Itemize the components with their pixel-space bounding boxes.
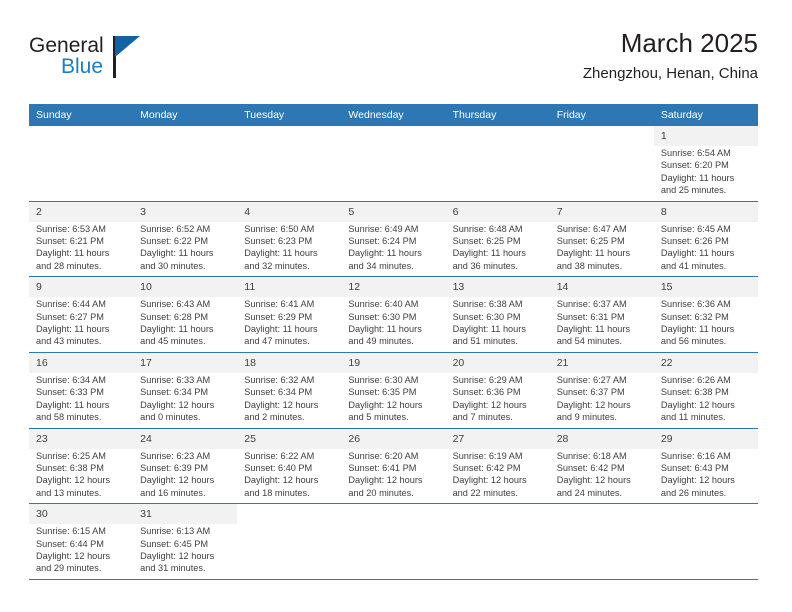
day-number: 11 xyxy=(237,277,341,297)
daylight-text-line1: Daylight: 12 hours xyxy=(36,474,127,486)
calendar-empty-cell xyxy=(550,504,654,580)
calendar-header-row-group: Sunday Monday Tuesday Wednesday Thursday… xyxy=(29,104,758,126)
day-cell-content: 17Sunrise: 6:33 AMSunset: 6:34 PMDayligh… xyxy=(133,353,237,428)
general-blue-logo[interactable]: General Blue xyxy=(29,34,209,92)
calendar-week-row: 2Sunrise: 6:53 AMSunset: 6:21 PMDaylight… xyxy=(29,201,758,277)
day-cell-content: 27Sunrise: 6:19 AMSunset: 6:42 PMDayligh… xyxy=(446,429,550,504)
daylight-text-line2: and 32 minutes. xyxy=(244,260,335,272)
sunrise-text: Sunrise: 6:13 AM xyxy=(140,525,231,537)
daylight-text-line1: Daylight: 11 hours xyxy=(661,172,752,184)
sunrise-text: Sunrise: 6:32 AM xyxy=(244,374,335,386)
sunrise-text: Sunrise: 6:43 AM xyxy=(140,298,231,310)
calendar-day-cell[interactable]: 22Sunrise: 6:26 AMSunset: 6:38 PMDayligh… xyxy=(654,352,758,428)
daylight-text-line2: and 18 minutes. xyxy=(244,487,335,499)
daylight-text-line2: and 2 minutes. xyxy=(244,411,335,423)
sunrise-text: Sunrise: 6:44 AM xyxy=(36,298,127,310)
calendar-day-cell[interactable]: 3Sunrise: 6:52 AMSunset: 6:22 PMDaylight… xyxy=(133,201,237,277)
day-cell-content: 9Sunrise: 6:44 AMSunset: 6:27 PMDaylight… xyxy=(29,277,133,352)
calendar-empty-cell xyxy=(237,126,341,201)
day-number: 4 xyxy=(237,202,341,222)
day-number: 27 xyxy=(446,429,550,449)
day-cell-content: 31Sunrise: 6:13 AMSunset: 6:45 PMDayligh… xyxy=(133,504,237,579)
day-number: 10 xyxy=(133,277,237,297)
day-number: 5 xyxy=(341,202,445,222)
day-cell-content: 8Sunrise: 6:45 AMSunset: 6:26 PMDaylight… xyxy=(654,202,758,277)
daylight-text-line2: and 54 minutes. xyxy=(557,335,648,347)
calendar-empty-cell xyxy=(341,504,445,580)
sunset-text: Sunset: 6:35 PM xyxy=(348,386,439,398)
day-number: 14 xyxy=(550,277,654,297)
calendar-day-cell[interactable]: 18Sunrise: 6:32 AMSunset: 6:34 PMDayligh… xyxy=(237,352,341,428)
calendar-day-cell[interactable]: 31Sunrise: 6:13 AMSunset: 6:45 PMDayligh… xyxy=(133,504,237,580)
day-cell-content: 7Sunrise: 6:47 AMSunset: 6:25 PMDaylight… xyxy=(550,202,654,277)
sunset-text: Sunset: 6:39 PM xyxy=(140,462,231,474)
day-cell-content: 30Sunrise: 6:15 AMSunset: 6:44 PMDayligh… xyxy=(29,504,133,579)
day-number: 9 xyxy=(29,277,133,297)
sunrise-text: Sunrise: 6:52 AM xyxy=(140,223,231,235)
day-number: 24 xyxy=(133,429,237,449)
daylight-text-line2: and 31 minutes. xyxy=(140,562,231,574)
day-number: 13 xyxy=(446,277,550,297)
weekday-header-thursday: Thursday xyxy=(446,104,550,126)
sunrise-text: Sunrise: 6:54 AM xyxy=(661,147,752,159)
daylight-text-line2: and 49 minutes. xyxy=(348,335,439,347)
daylight-text-line1: Daylight: 11 hours xyxy=(557,247,648,259)
day-cell-content: 10Sunrise: 6:43 AMSunset: 6:28 PMDayligh… xyxy=(133,277,237,352)
day-number: 31 xyxy=(133,504,237,524)
day-cell-content: 23Sunrise: 6:25 AMSunset: 6:38 PMDayligh… xyxy=(29,429,133,504)
calendar-day-cell[interactable]: 13Sunrise: 6:38 AMSunset: 6:30 PMDayligh… xyxy=(446,277,550,353)
sunset-text: Sunset: 6:36 PM xyxy=(453,386,544,398)
sunrise-text: Sunrise: 6:18 AM xyxy=(557,450,648,462)
sunrise-text: Sunrise: 6:29 AM xyxy=(453,374,544,386)
day-cell-content: 12Sunrise: 6:40 AMSunset: 6:30 PMDayligh… xyxy=(341,277,445,352)
sunset-text: Sunset: 6:23 PM xyxy=(244,235,335,247)
day-cell-content: 3Sunrise: 6:52 AMSunset: 6:22 PMDaylight… xyxy=(133,202,237,277)
day-number: 22 xyxy=(654,353,758,373)
sunset-text: Sunset: 6:22 PM xyxy=(140,235,231,247)
daylight-text-line2: and 41 minutes. xyxy=(661,260,752,272)
day-number: 16 xyxy=(29,353,133,373)
daylight-text-line2: and 20 minutes. xyxy=(348,487,439,499)
daylight-text-line1: Daylight: 12 hours xyxy=(661,474,752,486)
day-number: 12 xyxy=(341,277,445,297)
title-block: March 2025 Zhengzhou, Henan, China xyxy=(583,26,758,86)
calendar-empty-cell xyxy=(446,504,550,580)
calendar-day-cell[interactable]: 17Sunrise: 6:33 AMSunset: 6:34 PMDayligh… xyxy=(133,352,237,428)
sunset-text: Sunset: 6:29 PM xyxy=(244,311,335,323)
daylight-text-line1: Daylight: 11 hours xyxy=(453,247,544,259)
calendar-day-cell[interactable]: 27Sunrise: 6:19 AMSunset: 6:42 PMDayligh… xyxy=(446,428,550,504)
day-number: 15 xyxy=(654,277,758,297)
calendar-week-row: 16Sunrise: 6:34 AMSunset: 6:33 PMDayligh… xyxy=(29,352,758,428)
day-cell-content: 24Sunrise: 6:23 AMSunset: 6:39 PMDayligh… xyxy=(133,429,237,504)
day-number: 26 xyxy=(341,429,445,449)
daylight-text-line1: Daylight: 12 hours xyxy=(348,399,439,411)
sunrise-text: Sunrise: 6:15 AM xyxy=(36,525,127,537)
daylight-text-line2: and 51 minutes. xyxy=(453,335,544,347)
calendar-page: General Blue March 2025 Zhengzhou, Henan… xyxy=(0,0,792,612)
sunrise-text: Sunrise: 6:37 AM xyxy=(557,298,648,310)
calendar-day-cell[interactable]: 16Sunrise: 6:34 AMSunset: 6:33 PMDayligh… xyxy=(29,352,133,428)
day-cell-content: 18Sunrise: 6:32 AMSunset: 6:34 PMDayligh… xyxy=(237,353,341,428)
daylight-text-line1: Daylight: 12 hours xyxy=(557,474,648,486)
day-number: 30 xyxy=(29,504,133,524)
sunrise-text: Sunrise: 6:33 AM xyxy=(140,374,231,386)
day-cell-content: 29Sunrise: 6:16 AMSunset: 6:43 PMDayligh… xyxy=(654,429,758,504)
daylight-text-line2: and 38 minutes. xyxy=(557,260,648,272)
sunset-text: Sunset: 6:30 PM xyxy=(348,311,439,323)
sunset-text: Sunset: 6:26 PM xyxy=(661,235,752,247)
calendar-week-row: 9Sunrise: 6:44 AMSunset: 6:27 PMDaylight… xyxy=(29,277,758,353)
sunset-text: Sunset: 6:38 PM xyxy=(661,386,752,398)
sunrise-text: Sunrise: 6:19 AM xyxy=(453,450,544,462)
daylight-text-line1: Daylight: 11 hours xyxy=(140,247,231,259)
daylight-text-line2: and 28 minutes. xyxy=(36,260,127,272)
day-cell-content: 14Sunrise: 6:37 AMSunset: 6:31 PMDayligh… xyxy=(550,277,654,352)
sunset-text: Sunset: 6:45 PM xyxy=(140,538,231,550)
weekday-header-sunday: Sunday xyxy=(29,104,133,126)
day-cell-content: 21Sunrise: 6:27 AMSunset: 6:37 PMDayligh… xyxy=(550,353,654,428)
sunset-text: Sunset: 6:21 PM xyxy=(36,235,127,247)
sunset-text: Sunset: 6:42 PM xyxy=(453,462,544,474)
calendar-day-cell[interactable]: 4Sunrise: 6:50 AMSunset: 6:23 PMDaylight… xyxy=(237,201,341,277)
day-cell-content: 19Sunrise: 6:30 AMSunset: 6:35 PMDayligh… xyxy=(341,353,445,428)
sunset-text: Sunset: 6:42 PM xyxy=(557,462,648,474)
day-number: 18 xyxy=(237,353,341,373)
daylight-text-line1: Daylight: 11 hours xyxy=(348,247,439,259)
daylight-text-line1: Daylight: 12 hours xyxy=(140,399,231,411)
calendar-day-cell[interactable]: 11Sunrise: 6:41 AMSunset: 6:29 PMDayligh… xyxy=(237,277,341,353)
daylight-text-line1: Daylight: 11 hours xyxy=(36,323,127,335)
daylight-text-line2: and 16 minutes. xyxy=(140,487,231,499)
daylight-text-line1: Daylight: 12 hours xyxy=(661,399,752,411)
calendar-day-cell[interactable]: 6Sunrise: 6:48 AMSunset: 6:25 PMDaylight… xyxy=(446,201,550,277)
day-number: 23 xyxy=(29,429,133,449)
daylight-text-line2: and 0 minutes. xyxy=(140,411,231,423)
calendar-day-cell[interactable]: 7Sunrise: 6:47 AMSunset: 6:25 PMDaylight… xyxy=(550,201,654,277)
sunrise-text: Sunrise: 6:23 AM xyxy=(140,450,231,462)
day-number: 6 xyxy=(446,202,550,222)
day-number: 8 xyxy=(654,202,758,222)
calendar-day-cell[interactable]: 14Sunrise: 6:37 AMSunset: 6:31 PMDayligh… xyxy=(550,277,654,353)
day-number: 20 xyxy=(446,353,550,373)
sunrise-text: Sunrise: 6:47 AM xyxy=(557,223,648,235)
calendar-day-cell[interactable]: 15Sunrise: 6:36 AMSunset: 6:32 PMDayligh… xyxy=(654,277,758,353)
sunrise-text: Sunrise: 6:38 AM xyxy=(453,298,544,310)
daylight-text-line2: and 43 minutes. xyxy=(36,335,127,347)
logo-text-blue: Blue xyxy=(61,55,103,79)
day-number: 1 xyxy=(654,126,758,146)
day-cell-content: 11Sunrise: 6:41 AMSunset: 6:29 PMDayligh… xyxy=(237,277,341,352)
calendar-day-cell[interactable]: 1Sunrise: 6:54 AMSunset: 6:20 PMDaylight… xyxy=(654,126,758,201)
sunset-text: Sunset: 6:30 PM xyxy=(453,311,544,323)
daylight-text-line1: Daylight: 12 hours xyxy=(244,474,335,486)
sunrise-text: Sunrise: 6:26 AM xyxy=(661,374,752,386)
calendar-day-cell[interactable]: 30Sunrise: 6:15 AMSunset: 6:44 PMDayligh… xyxy=(29,504,133,580)
day-number: 28 xyxy=(550,429,654,449)
daylight-text-line2: and 25 minutes. xyxy=(661,184,752,196)
daylight-text-line2: and 47 minutes. xyxy=(244,335,335,347)
calendar-empty-cell xyxy=(341,126,445,201)
daylight-text-line2: and 13 minutes. xyxy=(36,487,127,499)
day-cell-content: 5Sunrise: 6:49 AMSunset: 6:24 PMDaylight… xyxy=(341,202,445,277)
day-cell-content: 22Sunrise: 6:26 AMSunset: 6:38 PMDayligh… xyxy=(654,353,758,428)
sunrise-sunset-calendar-table: Sunday Monday Tuesday Wednesday Thursday… xyxy=(29,104,758,580)
day-number: 17 xyxy=(133,353,237,373)
daylight-text-line2: and 30 minutes. xyxy=(140,260,231,272)
daylight-text-line2: and 26 minutes. xyxy=(661,487,752,499)
weekday-header-wednesday: Wednesday xyxy=(341,104,445,126)
calendar-day-cell[interactable]: 28Sunrise: 6:18 AMSunset: 6:42 PMDayligh… xyxy=(550,428,654,504)
daylight-text-line1: Daylight: 11 hours xyxy=(140,323,231,335)
day-number: 25 xyxy=(237,429,341,449)
daylight-text-line1: Daylight: 12 hours xyxy=(348,474,439,486)
daylight-text-line2: and 45 minutes. xyxy=(140,335,231,347)
daylight-text-line1: Daylight: 11 hours xyxy=(557,323,648,335)
daylight-text-line1: Daylight: 12 hours xyxy=(557,399,648,411)
sunrise-text: Sunrise: 6:48 AM xyxy=(453,223,544,235)
daylight-text-line1: Daylight: 12 hours xyxy=(244,399,335,411)
calendar-day-cell[interactable]: 10Sunrise: 6:43 AMSunset: 6:28 PMDayligh… xyxy=(133,277,237,353)
sunrise-text: Sunrise: 6:16 AM xyxy=(661,450,752,462)
daylight-text-line2: and 36 minutes. xyxy=(453,260,544,272)
sunrise-text: Sunrise: 6:41 AM xyxy=(244,298,335,310)
sunset-text: Sunset: 6:32 PM xyxy=(661,311,752,323)
day-cell-content: 6Sunrise: 6:48 AMSunset: 6:25 PMDaylight… xyxy=(446,202,550,277)
sunset-text: Sunset: 6:38 PM xyxy=(36,462,127,474)
daylight-text-line2: and 29 minutes. xyxy=(36,562,127,574)
calendar-empty-cell xyxy=(446,126,550,201)
calendar-day-cell[interactable]: 23Sunrise: 6:25 AMSunset: 6:38 PMDayligh… xyxy=(29,428,133,504)
weekday-header-friday: Friday xyxy=(550,104,654,126)
daylight-text-line1: Daylight: 11 hours xyxy=(36,247,127,259)
sunset-text: Sunset: 6:28 PM xyxy=(140,311,231,323)
sunset-text: Sunset: 6:34 PM xyxy=(140,386,231,398)
daylight-text-line1: Daylight: 12 hours xyxy=(140,550,231,562)
sunset-text: Sunset: 6:31 PM xyxy=(557,311,648,323)
sunset-text: Sunset: 6:20 PM xyxy=(661,159,752,171)
weekday-header-tuesday: Tuesday xyxy=(237,104,341,126)
day-cell-content: 16Sunrise: 6:34 AMSunset: 6:33 PMDayligh… xyxy=(29,353,133,428)
daylight-text-line2: and 58 minutes. xyxy=(36,411,127,423)
day-number: 29 xyxy=(654,429,758,449)
day-number: 19 xyxy=(341,353,445,373)
calendar-week-row: 30Sunrise: 6:15 AMSunset: 6:44 PMDayligh… xyxy=(29,504,758,580)
sunrise-text: Sunrise: 6:45 AM xyxy=(661,223,752,235)
sunset-text: Sunset: 6:43 PM xyxy=(661,462,752,474)
daylight-text-line1: Daylight: 12 hours xyxy=(36,550,127,562)
daylight-text-line2: and 11 minutes. xyxy=(661,411,752,423)
sunrise-text: Sunrise: 6:49 AM xyxy=(348,223,439,235)
daylight-text-line1: Daylight: 12 hours xyxy=(140,474,231,486)
calendar-day-cell[interactable]: 21Sunrise: 6:27 AMSunset: 6:37 PMDayligh… xyxy=(550,352,654,428)
daylight-text-line1: Daylight: 11 hours xyxy=(453,323,544,335)
weekday-header-saturday: Saturday xyxy=(654,104,758,126)
page-subtitle-location: Zhengzhou, Henan, China xyxy=(583,62,758,86)
page-title: March 2025 xyxy=(583,26,758,60)
sunset-text: Sunset: 6:40 PM xyxy=(244,462,335,474)
daylight-text-line1: Daylight: 11 hours xyxy=(244,323,335,335)
sunrise-text: Sunrise: 6:27 AM xyxy=(557,374,648,386)
sunset-text: Sunset: 6:27 PM xyxy=(36,311,127,323)
day-cell-content: 2Sunrise: 6:53 AMSunset: 6:21 PMDaylight… xyxy=(29,202,133,277)
calendar-day-cell[interactable]: 29Sunrise: 6:16 AMSunset: 6:43 PMDayligh… xyxy=(654,428,758,504)
sunrise-text: Sunrise: 6:34 AM xyxy=(36,374,127,386)
day-cell-content: 13Sunrise: 6:38 AMSunset: 6:30 PMDayligh… xyxy=(446,277,550,352)
sunset-text: Sunset: 6:24 PM xyxy=(348,235,439,247)
sunrise-text: Sunrise: 6:36 AM xyxy=(661,298,752,310)
weekday-header-monday: Monday xyxy=(133,104,237,126)
daylight-text-line1: Daylight: 11 hours xyxy=(661,323,752,335)
calendar-day-cell[interactable]: 26Sunrise: 6:20 AMSunset: 6:41 PMDayligh… xyxy=(341,428,445,504)
calendar-day-cell[interactable]: 9Sunrise: 6:44 AMSunset: 6:27 PMDaylight… xyxy=(29,277,133,353)
calendar-empty-cell xyxy=(29,126,133,201)
day-number: 7 xyxy=(550,202,654,222)
daylight-text-line2: and 34 minutes. xyxy=(348,260,439,272)
calendar-empty-cell xyxy=(133,126,237,201)
daylight-text-line2: and 7 minutes. xyxy=(453,411,544,423)
day-cell-content: 26Sunrise: 6:20 AMSunset: 6:41 PMDayligh… xyxy=(341,429,445,504)
calendar-week-row: 23Sunrise: 6:25 AMSunset: 6:38 PMDayligh… xyxy=(29,428,758,504)
daylight-text-line1: Daylight: 11 hours xyxy=(244,247,335,259)
day-cell-content: 28Sunrise: 6:18 AMSunset: 6:42 PMDayligh… xyxy=(550,429,654,504)
sunset-text: Sunset: 6:34 PM xyxy=(244,386,335,398)
day-cell-content: 1Sunrise: 6:54 AMSunset: 6:20 PMDaylight… xyxy=(654,126,758,201)
sunrise-text: Sunrise: 6:50 AM xyxy=(244,223,335,235)
calendar-day-cell[interactable]: 25Sunrise: 6:22 AMSunset: 6:40 PMDayligh… xyxy=(237,428,341,504)
sunset-text: Sunset: 6:41 PM xyxy=(348,462,439,474)
sunset-text: Sunset: 6:37 PM xyxy=(557,386,648,398)
calendar-day-cell[interactable]: 8Sunrise: 6:45 AMSunset: 6:26 PMDaylight… xyxy=(654,201,758,277)
day-cell-content: 4Sunrise: 6:50 AMSunset: 6:23 PMDaylight… xyxy=(237,202,341,277)
calendar-day-cell[interactable]: 20Sunrise: 6:29 AMSunset: 6:36 PMDayligh… xyxy=(446,352,550,428)
calendar-empty-cell xyxy=(654,504,758,580)
day-cell-content: 15Sunrise: 6:36 AMSunset: 6:32 PMDayligh… xyxy=(654,277,758,352)
sunrise-text: Sunrise: 6:40 AM xyxy=(348,298,439,310)
calendar-empty-cell xyxy=(237,504,341,580)
daylight-text-line1: Daylight: 11 hours xyxy=(661,247,752,259)
day-number: 21 xyxy=(550,353,654,373)
daylight-text-line2: and 9 minutes. xyxy=(557,411,648,423)
sunset-text: Sunset: 6:33 PM xyxy=(36,386,127,398)
daylight-text-line2: and 5 minutes. xyxy=(348,411,439,423)
triangle-logo-icon xyxy=(115,36,140,57)
daylight-text-line2: and 24 minutes. xyxy=(557,487,648,499)
daylight-text-line1: Daylight: 12 hours xyxy=(453,399,544,411)
sunset-text: Sunset: 6:44 PM xyxy=(36,538,127,550)
calendar-day-cell[interactable]: 19Sunrise: 6:30 AMSunset: 6:35 PMDayligh… xyxy=(341,352,445,428)
calendar-week-row: 1Sunrise: 6:54 AMSunset: 6:20 PMDaylight… xyxy=(29,126,758,201)
daylight-text-line2: and 56 minutes. xyxy=(661,335,752,347)
day-cell-content: 20Sunrise: 6:29 AMSunset: 6:36 PMDayligh… xyxy=(446,353,550,428)
sunset-text: Sunset: 6:25 PM xyxy=(453,235,544,247)
daylight-text-line1: Daylight: 12 hours xyxy=(453,474,544,486)
calendar-day-cell[interactable]: 24Sunrise: 6:23 AMSunset: 6:39 PMDayligh… xyxy=(133,428,237,504)
calendar-body: 1Sunrise: 6:54 AMSunset: 6:20 PMDaylight… xyxy=(29,126,758,579)
sunrise-text: Sunrise: 6:30 AM xyxy=(348,374,439,386)
day-number: 2 xyxy=(29,202,133,222)
weekday-header-row: Sunday Monday Tuesday Wednesday Thursday… xyxy=(29,104,758,126)
calendar-empty-cell xyxy=(550,126,654,201)
sunrise-text: Sunrise: 6:22 AM xyxy=(244,450,335,462)
sunrise-text: Sunrise: 6:25 AM xyxy=(36,450,127,462)
sunrise-text: Sunrise: 6:53 AM xyxy=(36,223,127,235)
page-header: General Blue March 2025 Zhengzhou, Henan… xyxy=(29,26,758,98)
daylight-text-line1: Daylight: 11 hours xyxy=(36,399,127,411)
daylight-text-line1: Daylight: 11 hours xyxy=(348,323,439,335)
calendar-day-cell[interactable]: 5Sunrise: 6:49 AMSunset: 6:24 PMDaylight… xyxy=(341,201,445,277)
day-cell-content: 25Sunrise: 6:22 AMSunset: 6:40 PMDayligh… xyxy=(237,429,341,504)
calendar-day-cell[interactable]: 2Sunrise: 6:53 AMSunset: 6:21 PMDaylight… xyxy=(29,201,133,277)
sunrise-text: Sunrise: 6:20 AM xyxy=(348,450,439,462)
daylight-text-line2: and 22 minutes. xyxy=(453,487,544,499)
calendar-day-cell[interactable]: 12Sunrise: 6:40 AMSunset: 6:30 PMDayligh… xyxy=(341,277,445,353)
day-number: 3 xyxy=(133,202,237,222)
sunset-text: Sunset: 6:25 PM xyxy=(557,235,648,247)
